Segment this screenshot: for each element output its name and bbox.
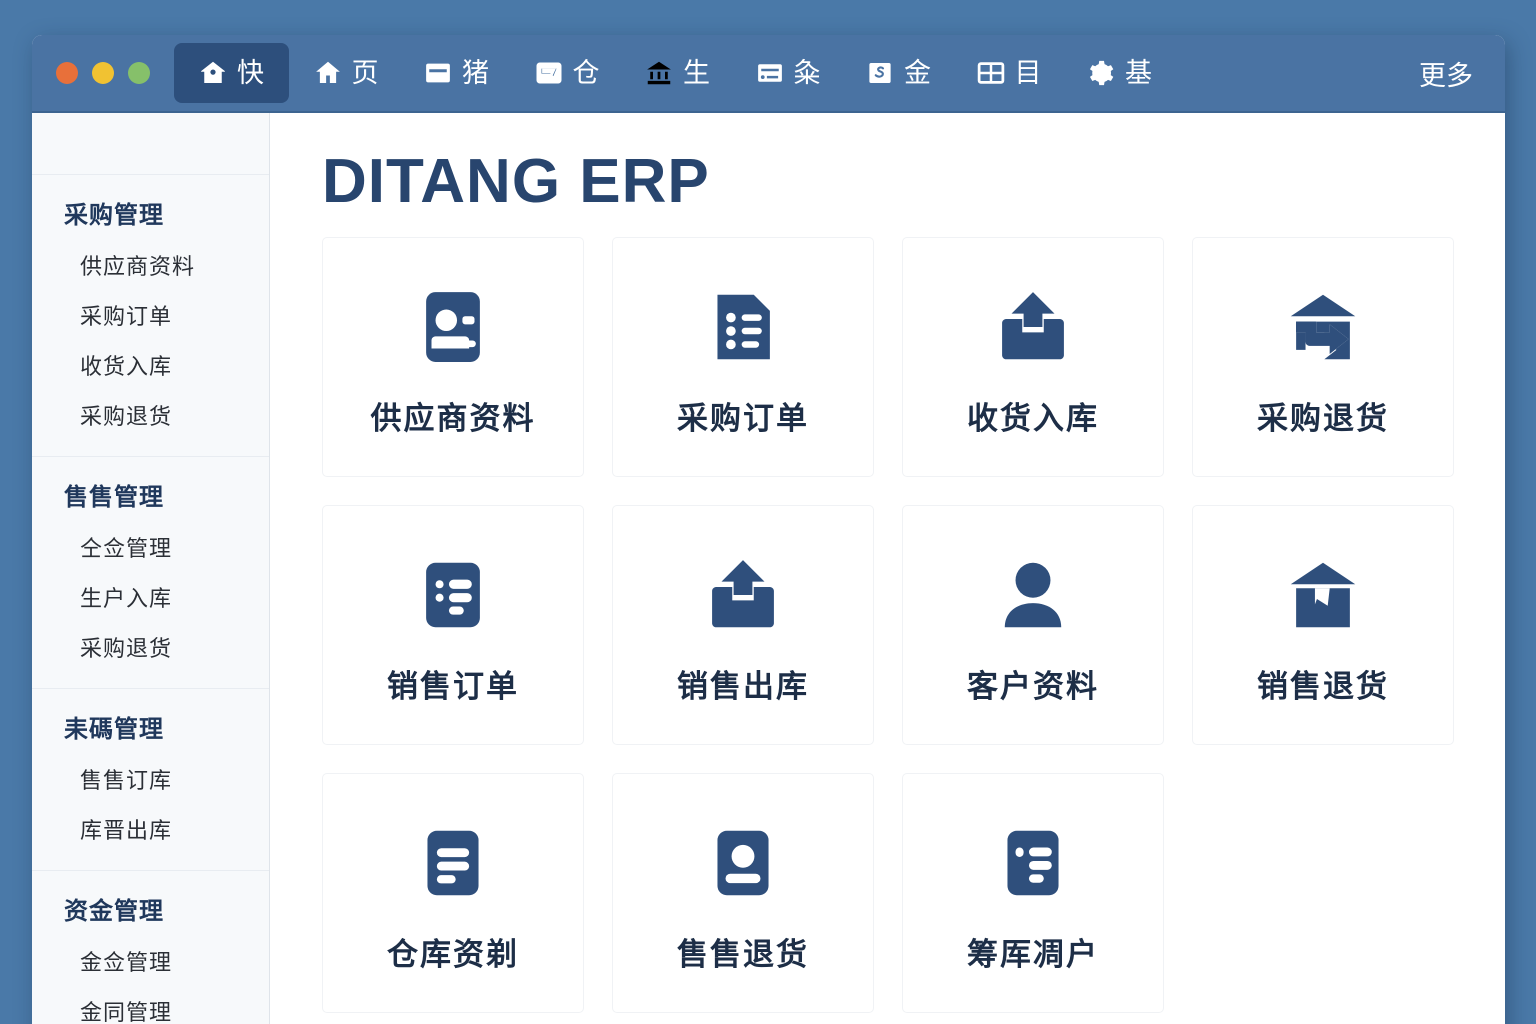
card-icon	[755, 58, 785, 88]
module-card-label: 采购退货	[1257, 403, 1389, 434]
sidebar-item-supplier-info[interactable]: 供应商资料	[32, 240, 269, 290]
toolbar-tab-warehouse-label: 仓	[573, 60, 601, 87]
list-square-icon	[990, 817, 1076, 909]
box-icon	[1280, 549, 1366, 641]
sidebar-item-sales-return[interactable]: 采购退货	[32, 622, 269, 672]
gear-icon	[1086, 58, 1116, 88]
home-icon	[198, 58, 228, 88]
sidebar-item-sales-order-stock[interactable]: 售售订库	[32, 754, 269, 804]
sidebar-section-inventory: 耒碼管理 售售订库 库晋出库	[32, 689, 269, 871]
person-icon	[990, 549, 1076, 641]
toolbar-tab-production-label: 生	[683, 60, 711, 87]
module-card-label: 销售出库	[677, 671, 809, 702]
sidebar-section-title: 资金管理	[32, 885, 269, 936]
box-return-icon	[1280, 281, 1366, 373]
sidebar-item-purchase-order[interactable]: 采购订单	[32, 290, 269, 340]
sidebar-section-funds: 资金管理 金佥管理 金同管理	[32, 871, 269, 1024]
app-window: 快 页 猪 仓	[32, 35, 1505, 1024]
toolbar-tab-home[interactable]: 快	[174, 43, 289, 103]
toolbar-tab-list-panel[interactable]: 猪	[403, 45, 510, 101]
module-card-sales-order[interactable]: 销售订单	[322, 505, 584, 745]
toolbar-tab-card[interactable]: 粂	[735, 45, 842, 101]
module-card-label: 仓库资剃	[387, 939, 519, 970]
home-icon	[313, 58, 343, 88]
module-card-sales-delivery[interactable]: 销售出库	[612, 505, 874, 745]
module-card-label: 供应商资料	[371, 403, 536, 434]
toolbar-tab-page[interactable]: 页	[293, 45, 400, 101]
sidebar-item-goods-receipt[interactable]: 收货入库	[32, 340, 269, 390]
sidebar-section-purchasing: 采购管理 供应商资料 采购订单 收货入库 采购退货	[32, 175, 269, 457]
close-window-button[interactable]	[56, 62, 78, 84]
module-card-label: 收货入库	[967, 403, 1099, 434]
sidebar: 采购管理 供应商资料 采购订单 收货入库 采购退货 售售管理 仝佥管理 生户入库…	[32, 113, 270, 1024]
app-body: 采购管理 供应商资料 采购订单 收货入库 采购退货 售售管理 仝佥管理 生户入库…	[32, 113, 1505, 1024]
module-card-purchase-return[interactable]: 采购退货	[1192, 237, 1454, 477]
toolbar-tabs: 快 页 猪 仓	[174, 43, 1399, 103]
list-panel-icon	[423, 58, 453, 88]
minimize-window-button[interactable]	[92, 62, 114, 84]
document-list-icon	[700, 281, 786, 373]
grid-icon	[976, 58, 1006, 88]
bank-icon	[644, 58, 674, 88]
toolbar-tab-settings[interactable]: 基	[1066, 45, 1173, 101]
module-card-label: 销售订单	[387, 671, 519, 702]
toolbar-tab-page-label: 页	[352, 60, 380, 87]
contact-card-icon	[410, 281, 496, 373]
sidebar-header	[32, 113, 269, 175]
inbox-upload-icon	[990, 281, 1076, 373]
module-card-purchase-order[interactable]: 采购订单	[612, 237, 874, 477]
toolbar-tab-finance[interactable]: 金	[845, 45, 952, 101]
module-grid: 供应商资料 采购订单 收货入库	[322, 237, 1465, 1013]
window-controls	[56, 62, 150, 84]
inbox-icon	[534, 58, 564, 88]
sidebar-section-title: 售售管理	[32, 471, 269, 522]
sidebar-section-sales: 售售管理 仝佥管理 生户入库 采购退货	[32, 457, 269, 689]
toolbar-more-button[interactable]: 更多	[1399, 44, 1479, 103]
module-card-label: 销售退货	[1257, 671, 1389, 702]
sidebar-item-customer-stock[interactable]: 生户入库	[32, 572, 269, 622]
module-card-sales-return[interactable]: 销售退货	[1192, 505, 1454, 745]
sidebar-item-sales-manage[interactable]: 仝佥管理	[32, 522, 269, 572]
toolbar-tab-home-label: 快	[237, 60, 265, 87]
money-icon	[865, 58, 895, 88]
sidebar-item-purchase-return[interactable]: 采购退货	[32, 390, 269, 440]
toolbar-tab-card-label: 粂	[794, 60, 822, 87]
module-card-label: 客户资料	[967, 671, 1099, 702]
sidebar-item-stock-out[interactable]: 库晋出库	[32, 804, 269, 854]
lines-square-icon	[410, 817, 496, 909]
module-card-label: 筹厍凋户	[967, 939, 1099, 970]
list-square-icon	[410, 549, 496, 641]
toolbar-tab-reports-label: 目	[1015, 60, 1043, 87]
id-card-icon	[700, 817, 786, 909]
toolbar-tab-reports[interactable]: 目	[956, 45, 1063, 101]
sidebar-section-title: 采购管理	[32, 189, 269, 240]
module-card-label: 售售退货	[677, 939, 809, 970]
page-title: DITANG ERP	[322, 151, 1465, 213]
sidebar-item-contract-manage[interactable]: 金同管理	[32, 986, 269, 1024]
toolbar-tab-settings-label: 基	[1125, 60, 1153, 87]
module-card-label: 采购订单	[677, 403, 809, 434]
toolbar-tab-production[interactable]: 生	[624, 45, 731, 101]
module-card-goods-receipt[interactable]: 收货入库	[902, 237, 1164, 477]
toolbar-tab-warehouse[interactable]: 仓	[514, 45, 621, 101]
title-bar: 快 页 猪 仓	[32, 35, 1505, 113]
maximize-window-button[interactable]	[128, 62, 150, 84]
module-card-sales-return-alt[interactable]: 售售退货	[612, 773, 874, 1013]
inbox-upload-icon	[700, 549, 786, 641]
module-card-warehouse-data[interactable]: 仓库资剃	[322, 773, 584, 1013]
toolbar-tab-finance-label: 金	[904, 60, 932, 87]
sidebar-item-fund-manage[interactable]: 金佥管理	[32, 936, 269, 986]
module-card-stock-transfer[interactable]: 筹厍凋户	[902, 773, 1164, 1013]
toolbar-tab-list-panel-label: 猪	[462, 60, 490, 87]
module-card-supplier-info[interactable]: 供应商资料	[322, 237, 584, 477]
main-content: DITANG ERP 供应商资料 采购订单	[270, 113, 1505, 1024]
module-card-customer-info[interactable]: 客户资料	[902, 505, 1164, 745]
sidebar-section-title: 耒碼管理	[32, 703, 269, 754]
